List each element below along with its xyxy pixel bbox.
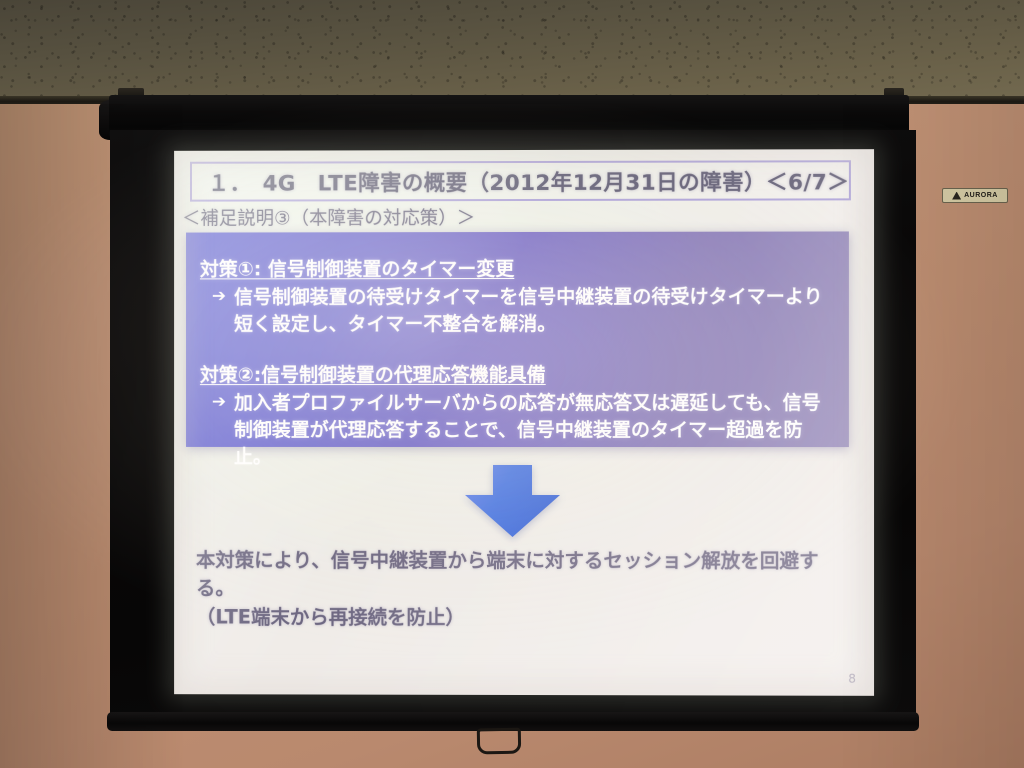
measures-spacer xyxy=(200,338,831,360)
conclusion-line-2: （LTE端末から再接続を防止） xyxy=(196,603,856,632)
arrow-bullet-icon: ➔ xyxy=(200,390,226,415)
down-arrow-icon xyxy=(460,465,565,537)
slide-title: １． 4G LTE障害の概要（2012年12月31日の障害）＜6/7＞ xyxy=(192,165,849,197)
slide-title-box: １． 4G LTE障害の概要（2012年12月31日の障害）＜6/7＞ xyxy=(190,160,851,201)
measure-2-body: 加入者プロファイルサーバからの応答が無応答又は遅延しても、信号 制御装置が代理応… xyxy=(234,390,831,471)
measure-1-heading: 対策①: 信号制御装置のタイマー変更 xyxy=(200,254,831,282)
measure-item-1: 対策①: 信号制御装置のタイマー変更 ➔ 信号制御装置の待受けタイマーを信号中継… xyxy=(200,254,831,339)
measures-panel: 対策①: 信号制御装置のタイマー変更 ➔ 信号制御装置の待受けタイマーを信号中継… xyxy=(186,231,849,447)
arrow-bullet-icon: ➔ xyxy=(200,284,226,309)
measure-item-2: 対策②:信号制御装置の代理応答機能具備 ➔ 加入者プロファイルサーバからの応答が… xyxy=(200,360,831,471)
aurora-brand-badge: AURORA xyxy=(942,188,1008,203)
slide-subtitle: ＜補足説明③（本障害の対応策）＞ xyxy=(182,204,475,230)
conclusion-line-1: 本対策により、信号中継装置から端末に対するセッション解放を回避する。 xyxy=(196,547,856,604)
measure-2-heading: 対策②:信号制御装置の代理応答機能具備 xyxy=(200,360,831,387)
projected-slide: １． 4G LTE障害の概要（2012年12月31日の障害）＜6/7＞ ＜補足説… xyxy=(174,149,874,696)
measure-2-line-2: 制御装置が代理応答することで、信号中継装置のタイマー超過を防止。 xyxy=(234,419,803,468)
screen-pull-handle[interactable] xyxy=(477,728,521,755)
photo-of-projected-slide: AURORA １． 4G LTE障害の概要（2012年12月31日の障害）＜6/… xyxy=(0,0,1024,768)
measure-1-line-1: 信号制御装置の待受けタイマーを信号中継装置の待受けタイマーより xyxy=(234,286,823,309)
aurora-logo-icon xyxy=(952,192,961,200)
slide-conclusion: 本対策により、信号中継装置から端末に対するセッション解放を回避する。 （LTE端… xyxy=(196,547,856,633)
ceiling xyxy=(0,0,1024,104)
measure-1-line-2: 短く設定し、タイマー不整合を解消。 xyxy=(234,313,556,335)
measure-2-line-1: 加入者プロファイルサーバからの応答が無応答又は遅延しても、信号 xyxy=(234,392,821,414)
slide-page-number: 8 xyxy=(848,672,856,686)
aurora-brand-label: AURORA xyxy=(964,192,998,199)
measure-1-body: 信号制御装置の待受けタイマーを信号中継装置の待受けタイマーより 短く設定し、タイ… xyxy=(234,284,823,339)
